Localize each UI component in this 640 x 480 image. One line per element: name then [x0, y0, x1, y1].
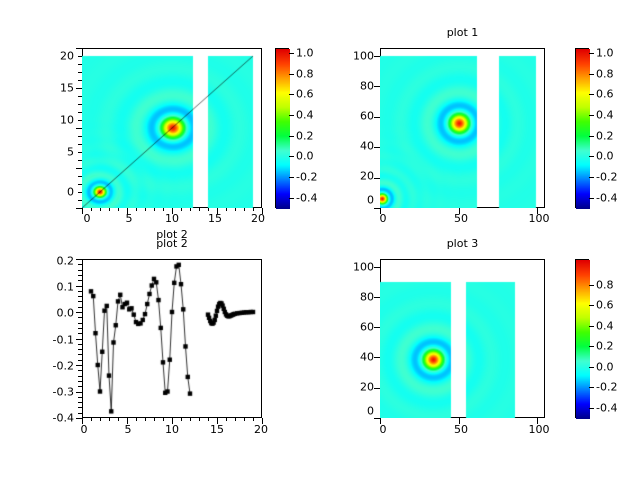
y-axis-major-tick — [374, 56, 380, 57]
y-axis-major-tick — [374, 117, 380, 118]
y-axis-minor-tick — [78, 413, 82, 414]
panel-top-right-colorbar — [575, 48, 589, 208]
x-axis-minor-tick — [217, 208, 218, 211]
panel-bottom-left-title: plot 2 — [82, 237, 262, 250]
colorbar-tick-label: 0.6 — [296, 88, 314, 101]
colorbar-tick — [589, 367, 594, 368]
y-axis-minor-tick — [78, 328, 82, 329]
colorbar-tick — [589, 305, 594, 306]
colorbar-tick — [589, 285, 594, 286]
y-axis-minor-tick — [78, 296, 82, 297]
x-axis-minor-tick — [127, 208, 128, 211]
colorbar-tick-label: 0.0 — [596, 150, 614, 163]
y-axis-minor-tick — [78, 312, 82, 313]
y-axis-major-tick — [374, 297, 380, 298]
x-axis-major-tick — [459, 208, 460, 214]
x-axis-minor-tick — [118, 418, 119, 421]
y-axis-minor-tick — [78, 259, 82, 260]
y-axis-minor-tick — [78, 360, 82, 361]
colorbar-tick-label: 0.4 — [596, 109, 614, 122]
y-axis-minor-tick — [78, 264, 82, 265]
colorbar-tick-label: -0.2 — [596, 171, 617, 184]
y-axis-minor-tick — [78, 323, 82, 324]
x-axis-major-tick — [380, 418, 381, 424]
colorbar-tick-label: 0.6 — [596, 299, 614, 312]
x-axis-minor-tick — [226, 208, 227, 211]
y-axis-major-tick — [374, 178, 380, 179]
x-axis-minor-tick — [181, 418, 182, 421]
panel-bottom-right-axes — [380, 259, 545, 418]
panel-bottom-right-title: plot 3 — [380, 237, 545, 250]
y-axis-minor-tick — [78, 88, 82, 89]
y-axis-minor-tick — [78, 344, 82, 345]
colorbar-tick — [589, 177, 594, 178]
panel-bottom-left-lineplot — [82, 259, 262, 418]
x-axis-minor-tick — [199, 208, 200, 211]
y-axis-minor-tick — [78, 56, 82, 57]
y-axis-minor-tick — [78, 112, 82, 113]
y-axis-minor-tick — [78, 80, 82, 81]
x-axis-minor-tick — [181, 208, 182, 211]
colorbar-tick-label: -0.4 — [596, 402, 617, 415]
x-axis-minor-tick — [163, 208, 164, 211]
colorbar-tick — [589, 94, 594, 95]
colorbar-tick — [589, 136, 594, 137]
colorbar-tick-label: 0.2 — [596, 130, 614, 143]
x-axis-minor-tick — [253, 418, 254, 421]
x-axis-minor-tick — [217, 418, 218, 421]
y-axis-minor-tick — [78, 370, 82, 371]
colorbar-tick — [589, 115, 594, 116]
y-axis-minor-tick — [78, 402, 82, 403]
y-axis-minor-tick — [78, 96, 82, 97]
y-axis-minor-tick — [78, 136, 82, 137]
panel-top-left-colorbar — [275, 48, 289, 208]
x-axis-major-tick — [459, 418, 460, 424]
y-axis-minor-tick — [78, 120, 82, 121]
y-axis-major-tick — [374, 418, 380, 419]
y-axis-minor-tick — [78, 160, 82, 161]
y-axis-minor-tick — [78, 386, 82, 387]
colorbar-tick — [589, 74, 594, 75]
colorbar-tick — [289, 74, 294, 75]
y-axis-minor-tick — [78, 144, 82, 145]
y-axis-major-tick — [374, 357, 380, 358]
x-axis-minor-tick — [235, 418, 236, 421]
y-axis-minor-tick — [78, 381, 82, 382]
colorbar-tick-label: 1.0 — [296, 47, 314, 60]
x-axis-minor-tick — [244, 418, 245, 421]
colorbar-tick — [289, 94, 294, 95]
y-axis-minor-tick — [78, 392, 82, 393]
figure-canvas: 20 15 10 5 0 0 5 10 15 20 plot 2 1.00.80… — [0, 0, 640, 480]
y-axis-minor-tick — [78, 291, 82, 292]
colorbar-tick — [589, 387, 594, 388]
y-axis-minor-tick — [78, 376, 82, 377]
y-axis-major-tick — [374, 267, 380, 268]
colorbar-tick — [589, 53, 594, 54]
colorbar-tick-label: 0.8 — [596, 68, 614, 81]
x-axis-minor-tick — [172, 208, 173, 211]
x-axis-minor-tick — [91, 418, 92, 421]
y-axis-minor-tick — [78, 168, 82, 169]
panel-top-left-axes — [82, 48, 262, 208]
x-axis-minor-tick — [82, 208, 83, 211]
panel-top-right-axes — [380, 48, 545, 208]
y-axis-minor-tick — [78, 275, 82, 276]
x-axis-minor-tick — [244, 208, 245, 211]
panel-bottom-right-heatmap — [380, 259, 545, 418]
colorbar-tick-label: 0.0 — [596, 361, 614, 374]
y-axis-minor-tick — [78, 176, 82, 177]
x-axis-minor-tick — [262, 208, 263, 211]
colorbar-tick — [589, 326, 594, 327]
y-axis-minor-tick — [78, 301, 82, 302]
y-axis-minor-tick — [78, 208, 82, 209]
colorbar-tick-label: -0.4 — [296, 192, 317, 205]
x-axis-minor-tick — [136, 208, 137, 211]
colorbar-tick — [289, 136, 294, 137]
y-axis-minor-tick — [78, 64, 82, 65]
colorbar-tick-label: 0.4 — [296, 109, 314, 122]
panel-bottom-left: plot 2 0.2 0.1 0.0 -0.1 -0.2 -0.3 -0.4 0… — [0, 240, 330, 480]
colorbar-tick — [589, 346, 594, 347]
y-axis-minor-tick — [78, 72, 82, 73]
panel-top-left: 20 15 10 5 0 0 5 10 15 20 plot 2 1.00.80… — [0, 0, 330, 240]
panel-bottom-right-colorbar — [575, 259, 589, 418]
x-axis-minor-tick — [118, 208, 119, 211]
y-axis-major-tick — [374, 327, 380, 328]
y-axis-minor-tick — [78, 104, 82, 105]
x-axis-major-tick — [380, 208, 381, 214]
colorbar-tick — [289, 177, 294, 178]
x-axis-minor-tick — [127, 418, 128, 421]
panel-top-right: plot 1 100 80 60 40 20 0 0 50 100 1.00.8… — [330, 0, 640, 240]
y-axis-major-tick — [374, 86, 380, 87]
y-axis-minor-tick — [78, 184, 82, 185]
y-axis-minor-tick — [78, 317, 82, 318]
x-axis-minor-tick — [208, 418, 209, 421]
colorbar-tick — [589, 198, 594, 199]
panel-bottom-right: plot 3 100 80 60 40 20 0 0 50 100 0.80.6… — [330, 240, 640, 480]
y-axis-minor-tick — [78, 339, 82, 340]
x-axis-major-tick — [537, 208, 538, 214]
y-axis-minor-tick — [78, 365, 82, 366]
x-axis-minor-tick — [208, 208, 209, 211]
y-axis-minor-tick — [78, 286, 82, 287]
y-axis-major-tick — [374, 147, 380, 148]
y-axis-minor-tick — [78, 128, 82, 129]
x-axis-minor-tick — [136, 418, 137, 421]
x-axis-minor-tick — [91, 208, 92, 211]
x-axis-minor-tick — [145, 418, 146, 421]
y-axis-minor-tick — [78, 307, 82, 308]
colorbar-tick-label: 0.6 — [596, 88, 614, 101]
y-axis-minor-tick — [78, 152, 82, 153]
x-axis-minor-tick — [145, 208, 146, 211]
colorbar-tick — [289, 156, 294, 157]
x-axis-minor-tick — [262, 418, 263, 421]
x-axis-minor-tick — [154, 208, 155, 211]
y-axis-minor-tick — [78, 397, 82, 398]
panel-bottom-left-axes — [82, 259, 262, 418]
colorbar-tick-label: 0.0 — [296, 150, 314, 163]
x-axis-minor-tick — [109, 208, 110, 211]
y-axis-minor-tick — [78, 200, 82, 201]
y-axis-minor-tick — [78, 280, 82, 281]
x-axis-minor-tick — [253, 208, 254, 211]
colorbar-tick-label: 1.0 — [596, 47, 614, 60]
y-axis-minor-tick — [78, 333, 82, 334]
x-axis-major-tick — [537, 418, 538, 424]
y-axis-minor-tick — [78, 192, 82, 193]
colorbar-tick-label: 0.2 — [296, 130, 314, 143]
colorbar-tick-label: 0.8 — [296, 68, 314, 81]
colorbar-tick-label: 0.8 — [596, 279, 614, 292]
colorbar-tick-label: -0.4 — [596, 192, 617, 205]
panel-top-right-title: plot 1 — [380, 26, 545, 39]
x-axis-minor-tick — [109, 418, 110, 421]
y-axis-minor-tick — [78, 349, 82, 350]
y-axis-minor-tick — [78, 407, 82, 408]
x-axis-minor-tick — [163, 418, 164, 421]
colorbar-tick-label: -0.2 — [596, 381, 617, 394]
x-axis-minor-tick — [100, 418, 101, 421]
x-axis-minor-tick — [172, 418, 173, 421]
colorbar-tick — [289, 115, 294, 116]
y-axis-minor-tick — [78, 48, 82, 49]
colorbar-tick — [289, 198, 294, 199]
colorbar-tick — [589, 408, 594, 409]
x-axis-minor-tick — [82, 418, 83, 421]
x-axis-minor-tick — [100, 208, 101, 211]
panel-top-left-heatmap — [82, 48, 262, 208]
colorbar-tick-label: -0.2 — [296, 171, 317, 184]
y-axis-minor-tick — [78, 270, 82, 271]
panel-top-right-heatmap — [380, 48, 545, 208]
x-axis-minor-tick — [235, 208, 236, 211]
y-axis-major-tick — [374, 208, 380, 209]
colorbar-tick-label: 0.4 — [596, 320, 614, 333]
x-axis-minor-tick — [190, 418, 191, 421]
y-axis-major-tick — [374, 388, 380, 389]
x-axis-minor-tick — [199, 418, 200, 421]
x-axis-minor-tick — [154, 418, 155, 421]
y-axis-minor-tick — [78, 418, 82, 419]
colorbar-tick — [589, 156, 594, 157]
colorbar-tick — [289, 53, 294, 54]
y-axis-minor-tick — [78, 354, 82, 355]
x-axis-minor-tick — [226, 418, 227, 421]
x-axis-minor-tick — [190, 208, 191, 211]
colorbar-tick-label: 0.2 — [596, 340, 614, 353]
